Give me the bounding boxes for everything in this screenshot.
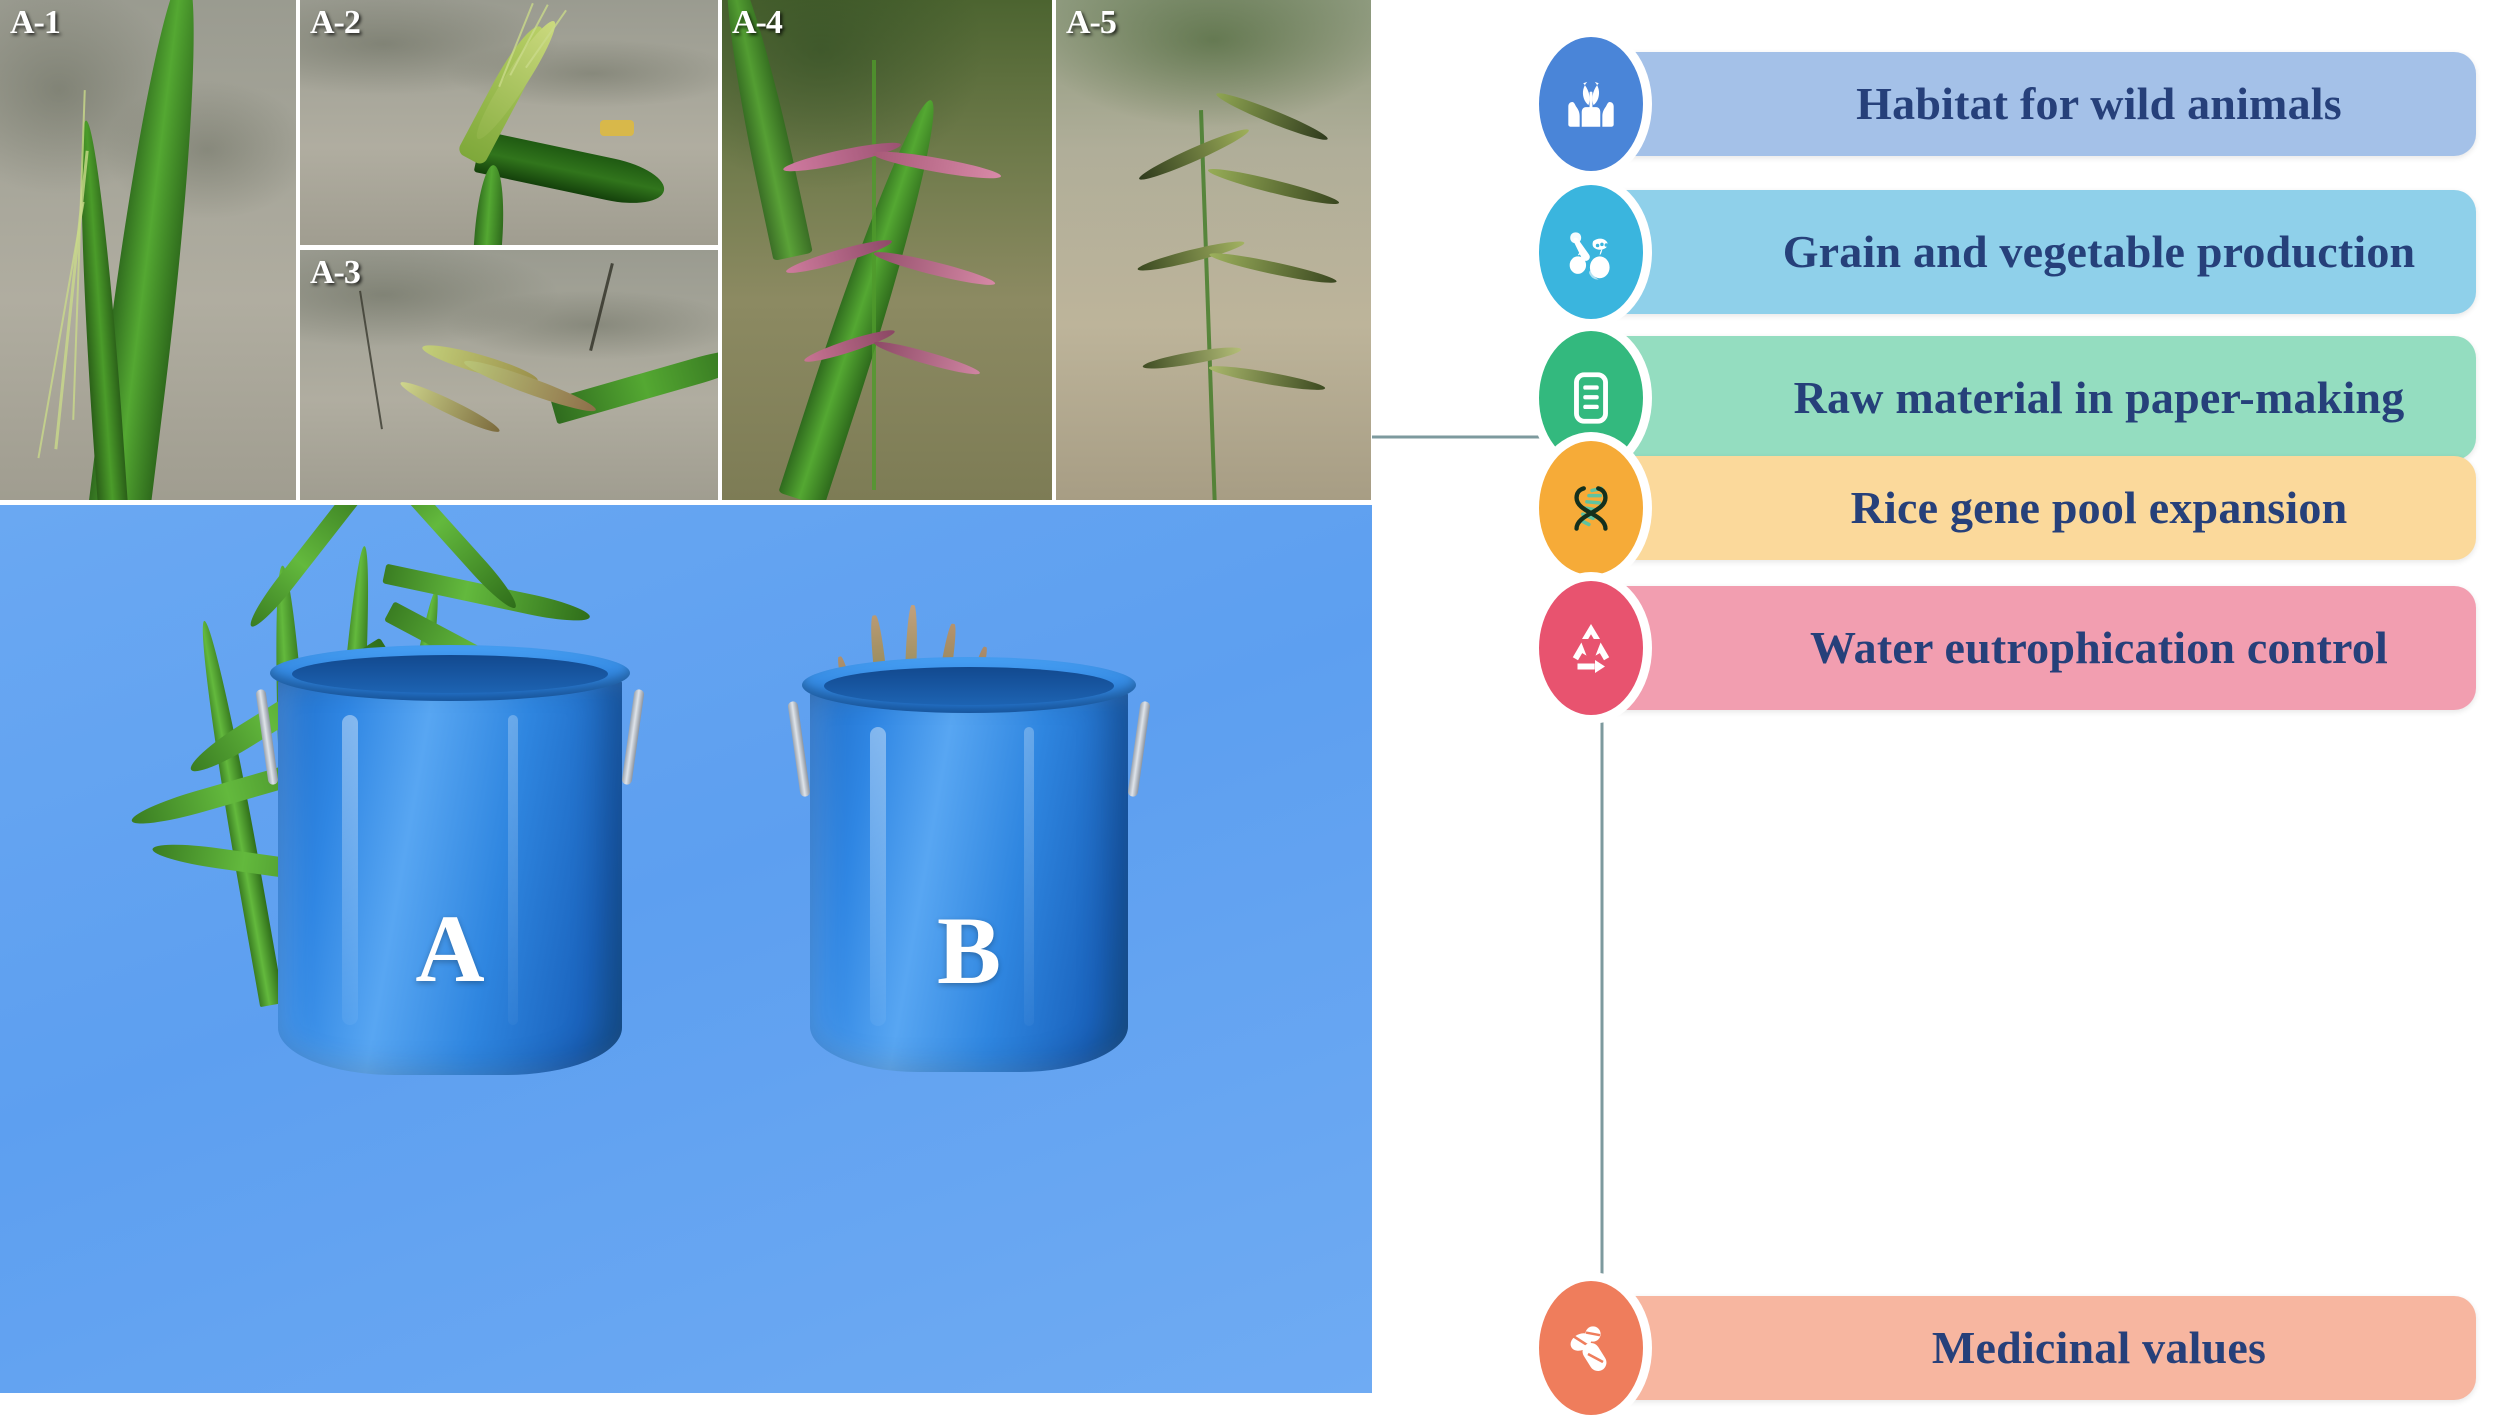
hands-holding-plant-icon	[1526, 24, 1656, 184]
pills-capsule-icon	[1526, 1268, 1656, 1428]
mindmap-node-gene-pool[interactable]: Rice gene pool expansion	[1596, 456, 2476, 560]
bucket-b-letter: B	[810, 895, 1128, 1006]
photo-a2: A-2	[300, 0, 718, 245]
mindmap-node-habitat[interactable]: Habitat for wild animals	[1596, 52, 2476, 156]
photo-a3: A-3	[300, 250, 718, 500]
photo-label-a2: A-2	[310, 4, 360, 42]
photo-label-a5: A-5	[1066, 4, 1116, 42]
mindmap-node-label: Grain and vegetable production	[1746, 225, 2452, 279]
bucket-b: B	[810, 657, 1128, 1072]
mindmap-node-label: Medicinal values	[1746, 1321, 2452, 1375]
ecological-values-mindmap: Habitat for wild animals	[1372, 0, 2500, 1393]
recycle-icon	[1526, 568, 1656, 728]
photo-label-a3: A-3	[310, 254, 360, 292]
dna-helix-icon	[1526, 428, 1656, 588]
mindmap-node-label: Habitat for wild animals	[1746, 77, 2452, 131]
mindmap-node-label: Raw material in paper-making	[1746, 371, 2452, 425]
photo-a4: A-4	[722, 0, 1052, 500]
photo-label-a1: A-1	[10, 4, 60, 42]
photo-montage-panel: A-1 A-2 A-3 A-4	[0, 0, 1372, 1393]
mindmap-node-label: Water eutrophication control	[1746, 621, 2452, 675]
photo-a5: A-5	[1056, 0, 1371, 500]
bucket-a: A	[278, 645, 622, 1075]
mindmap-node-label: Rice gene pool expansion	[1746, 481, 2452, 535]
photo-label-a4: A-4	[732, 4, 782, 42]
mindmap-node-medicinal[interactable]: Medicinal values	[1596, 1296, 2476, 1400]
photo-a1: A-1	[0, 0, 296, 500]
mindmap-node-eutrophication[interactable]: Water eutrophication control	[1596, 586, 2476, 710]
bucket-a-letter: A	[278, 893, 622, 1004]
mindmap-node-grain-vegetable[interactable]: Grain and vegetable production	[1596, 190, 2476, 314]
vegetables-icon	[1526, 172, 1656, 332]
mindmap-node-paper-making[interactable]: Raw material in paper-making	[1596, 336, 2476, 460]
photo-bucket-comparison: A B	[0, 505, 1372, 1393]
